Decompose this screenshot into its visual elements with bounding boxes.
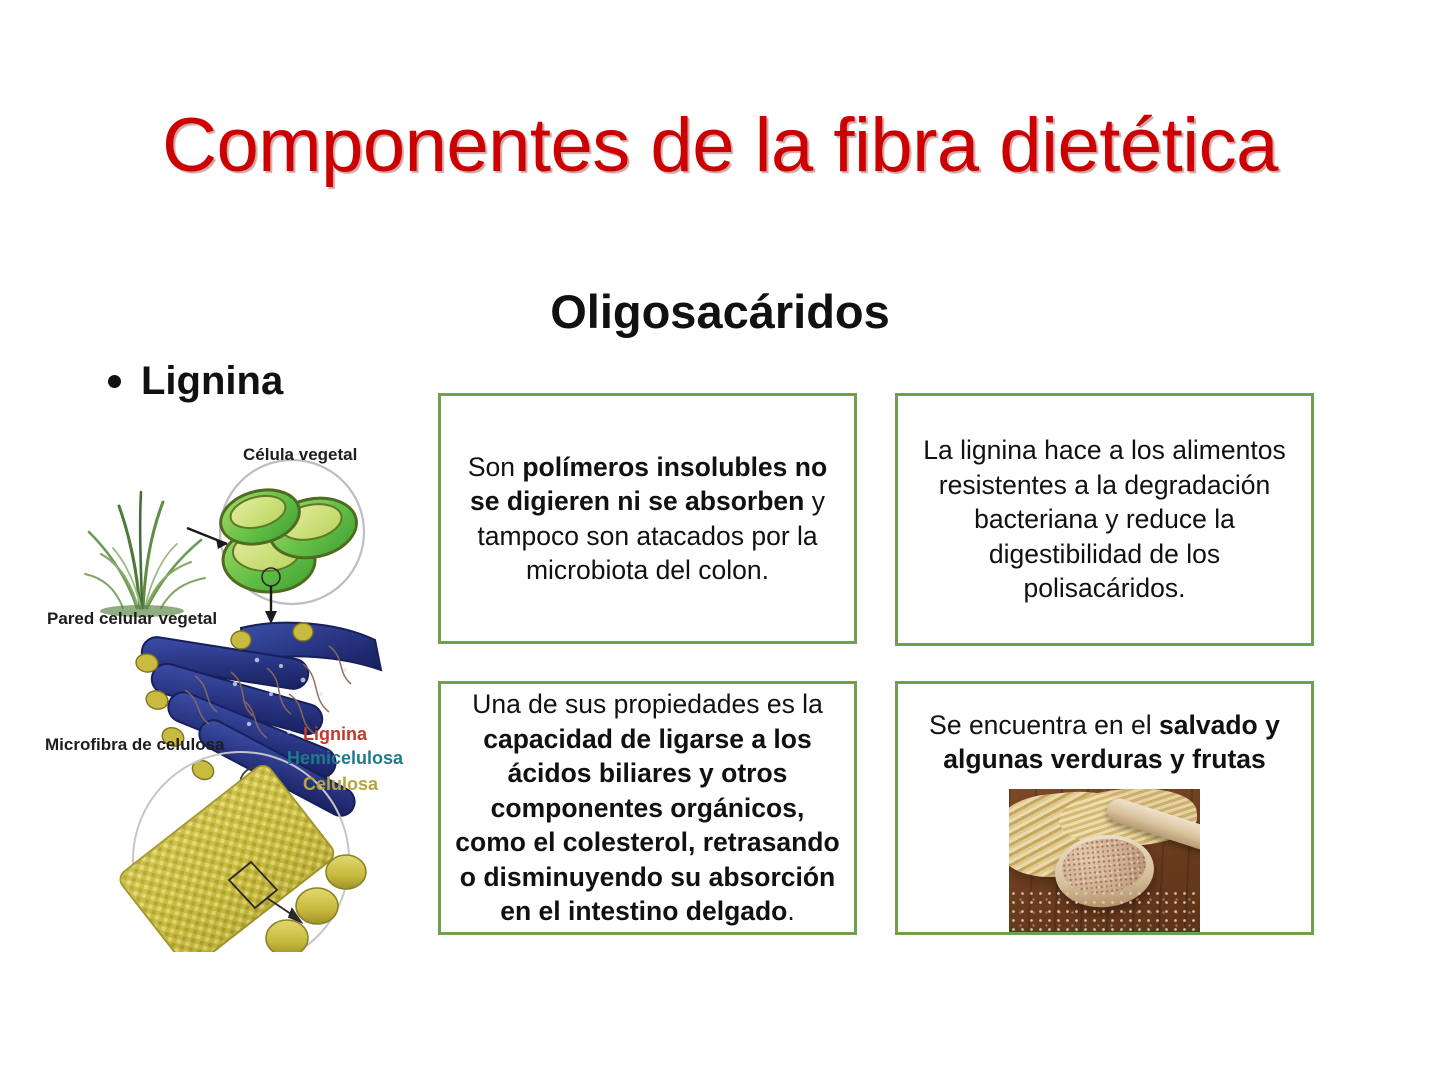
info-box-acidos-biliares: Una de sus propiedades es la capacidad d… [438, 681, 857, 935]
diagram-label-microfibra-de-celulosa: Microfibra de celulosa [45, 735, 225, 754]
text-segment-plain: Una de sus propiedades es la [472, 689, 823, 719]
text-segment-bold: capacidad de ligarse a los ácidos biliar… [455, 724, 839, 926]
info-box-text: Son polímeros insolubles no se digieren … [441, 450, 854, 588]
page-title: Componentes de la fibra dietética [0, 108, 1440, 184]
bran-photo [1009, 789, 1200, 932]
scattered-bran-crumbs [1009, 889, 1200, 932]
bullet-dot-icon [108, 375, 121, 388]
diagram-label-lignina: Lignina [303, 724, 368, 744]
diagram-label-celulosa: Celulosa [303, 774, 379, 794]
plant-cells-cluster [215, 482, 362, 592]
bullet-item-lignina: Lignina [108, 359, 283, 404]
diagram-label-hemicelulosa: Hemicelulosa [287, 748, 404, 768]
plant-illustration [85, 492, 205, 617]
bullet-item-label: Lignina [141, 359, 283, 404]
info-box-degradacion-bacteriana: La lignina hace a los alimentos resisten… [895, 393, 1314, 646]
info-box-text: La lignina hace a los alimentos resisten… [898, 433, 1311, 605]
info-box-text: Una de sus propiedades es la capacidad d… [441, 687, 854, 928]
info-box-salvado-verduras-frutas: Se encuentra en el salvado y algunas ver… [895, 681, 1314, 935]
plant-cell-wall-diagram: Célula vegetal Pared celular vegetal Mic… [45, 432, 425, 952]
text-segment-plain-2: . [787, 896, 794, 926]
text-segment-plain: Se encuentra en el [929, 710, 1159, 740]
diagram-label-pared-celular-vegetal: Pared celular vegetal [47, 609, 217, 628]
text-segment-plain: Son [468, 452, 523, 482]
slide-canvas: Componentes de la fibra dietética Oligos… [0, 0, 1440, 1080]
section-subtitle: Oligosacáridos [440, 288, 1000, 335]
info-box-polimeros-insolubles: Son polímeros insolubles no se digieren … [438, 393, 857, 644]
text-segment-bold: polímeros insolubles no se digieren ni s… [470, 452, 827, 516]
info-box-text: Se encuentra en el salvado y algunas ver… [898, 708, 1311, 777]
diagram-label-celula-vegetal: Célula vegetal [243, 445, 357, 464]
